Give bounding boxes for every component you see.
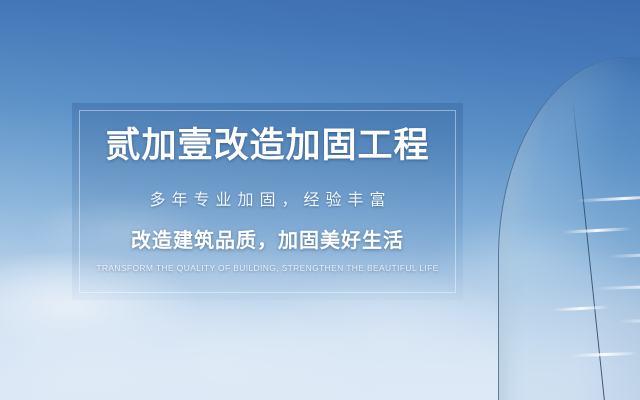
english-tagline-text: TRANSFORM THE QUALITY OF BUILDING, STREN… xyxy=(96,263,438,273)
page-title: 贰加壹改造加固工程 xyxy=(105,127,429,166)
cloud-blob xyxy=(150,355,530,400)
skyscraper-image xyxy=(480,0,640,400)
cloud-blob xyxy=(0,330,200,400)
tower-left-edge xyxy=(498,57,640,400)
window-glint xyxy=(608,251,640,258)
window-glint xyxy=(552,305,610,311)
window-glint xyxy=(576,194,640,202)
window-glint xyxy=(562,227,632,234)
window-glint xyxy=(594,283,640,290)
tagline-text: 改造建筑品质，加固美好生活 xyxy=(131,224,404,253)
cloud-blob xyxy=(60,300,380,400)
tower-glass-tint xyxy=(498,57,640,400)
hero-banner: 贰加壹改造加固工程 多年专业加固，经验丰富 改造建筑品质，加固美好生活 TRAN… xyxy=(0,0,640,400)
tower-seam-line xyxy=(572,97,613,400)
text-panel: 贰加壹改造加固工程 多年专业加固，经验丰富 改造建筑品质，加固美好生活 TRAN… xyxy=(72,103,463,300)
window-glint xyxy=(618,318,640,323)
window-glint xyxy=(572,352,638,357)
panel-content: 贰加壹改造加固工程 多年专业加固，经验丰富 改造建筑品质，加固美好生活 TRAN… xyxy=(72,103,463,300)
tower-body xyxy=(498,57,640,400)
subtitle-text: 多年专业加固，经验丰富 xyxy=(143,186,391,210)
